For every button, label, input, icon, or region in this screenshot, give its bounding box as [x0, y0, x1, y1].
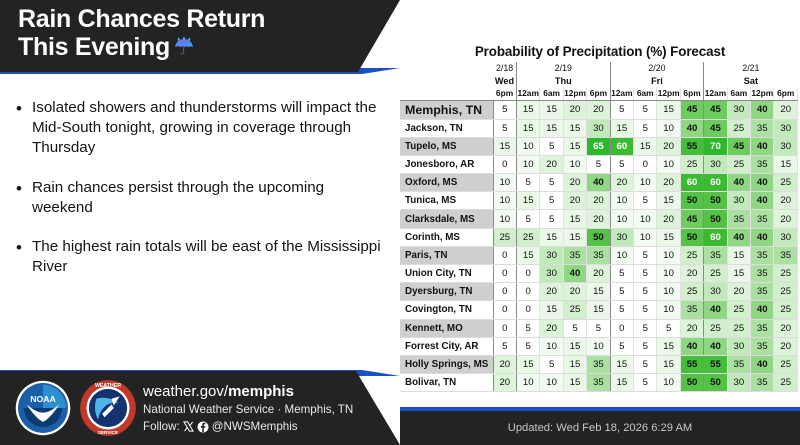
pop-value-cell: 35	[751, 246, 774, 264]
pop-value-cell: 5	[634, 265, 657, 283]
pop-value-cell: 15	[540, 119, 563, 137]
svg-text:NOAA: NOAA	[30, 394, 56, 404]
pop-value-cell: 60	[704, 174, 727, 192]
pop-value-cell: 20	[563, 174, 586, 192]
headline-line-1: Rain Chances Return	[18, 5, 265, 33]
pop-value-cell: 35	[751, 119, 774, 137]
pop-value-cell: 0	[493, 265, 516, 283]
day-date-header: 2/20	[610, 62, 704, 74]
table-row: Bolivar, TN2010101535155105050303525	[400, 374, 798, 392]
pop-value-cell: 0	[493, 301, 516, 319]
pop-value-cell: 25	[493, 228, 516, 246]
hour-header: 12pm	[657, 87, 680, 100]
table-row: Oxford, MS105520402010206060404025	[400, 174, 798, 192]
pop-value-cell: 15	[563, 137, 586, 155]
pop-value-cell: 65	[587, 137, 610, 155]
pop-value-cell: 20	[774, 192, 798, 210]
pop-value-cell: 30	[587, 119, 610, 137]
pop-value-cell: 15	[657, 355, 680, 373]
pop-value-cell: 30	[774, 228, 798, 246]
pop-value-cell: 15	[517, 355, 540, 373]
pop-value-cell: 25	[680, 246, 703, 264]
city-name-cell: Dyersburg, TN	[400, 283, 493, 301]
pop-value-cell: 5	[587, 155, 610, 173]
pop-value-cell: 55	[704, 355, 727, 373]
pop-value-cell: 30	[727, 100, 750, 119]
pop-value-cell: 0	[493, 319, 516, 337]
pop-value-cell: 40	[587, 174, 610, 192]
pop-value-cell: 10	[610, 210, 633, 228]
day-name-header: Sat	[704, 74, 798, 87]
pop-value-cell: 20	[563, 100, 586, 119]
pop-value-cell: 30	[727, 374, 750, 392]
pop-value-cell: 20	[774, 100, 798, 119]
pop-value-cell: 25	[774, 355, 798, 373]
pop-value-cell: 35	[587, 374, 610, 392]
pop-value-cell: 25	[727, 119, 750, 137]
pop-value-cell: 35	[751, 337, 774, 355]
pop-value-cell: 10	[657, 265, 680, 283]
pop-value-cell: 10	[657, 374, 680, 392]
pop-value-cell: 40	[751, 174, 774, 192]
table-row: Kennett, MO0520550552025253520	[400, 319, 798, 337]
pop-value-cell: 35	[751, 155, 774, 173]
pop-value-cell: 15	[517, 246, 540, 264]
pop-value-cell: 5	[634, 337, 657, 355]
footer-banner: NOAA WEATHER SERVICE weather.gov/memphis…	[0, 371, 400, 445]
bullet-text: The highest rain totals will be east of …	[32, 237, 388, 277]
pop-value-cell: 20	[727, 283, 750, 301]
pop-value-cell: 5	[563, 319, 586, 337]
city-name-cell: Tupelo, MS	[400, 137, 493, 155]
pop-value-cell: 25	[774, 374, 798, 392]
city-name-cell: Jackson, TN	[400, 119, 493, 137]
pop-value-cell: 25	[704, 319, 727, 337]
pop-value-cell: 35	[727, 210, 750, 228]
headline-banner: Rain Chances Return This Evening	[0, 0, 400, 72]
day-date-header: 2/18	[493, 62, 516, 74]
pop-value-cell: 20	[657, 210, 680, 228]
city-name-cell: Kennett, MO	[400, 319, 493, 337]
day-name-header: Thu	[517, 74, 611, 87]
bullet-dot-icon: •	[16, 178, 32, 218]
pop-value-cell: 20	[657, 174, 680, 192]
pop-value-cell: 25	[774, 283, 798, 301]
pop-value-cell: 15	[610, 355, 633, 373]
city-name-cell: Memphis, TN	[400, 100, 493, 119]
left-panel: Rain Chances Return This Evening	[0, 0, 400, 445]
pop-value-cell: 10	[657, 301, 680, 319]
pop-value-cell: 10	[610, 246, 633, 264]
agency-logos: NOAA WEATHER SERVICE	[14, 379, 137, 437]
city-name-cell: Covington, TN	[400, 301, 493, 319]
table-title: Probability of Precipitation (%) Forecas…	[400, 44, 800, 59]
hour-header: 6am	[727, 87, 750, 100]
pop-value-cell: 15	[493, 137, 516, 155]
national-weather-service-logo: WEATHER SERVICE	[79, 379, 137, 437]
pop-value-cell: 45	[704, 119, 727, 137]
website-prefix: weather.gov/	[143, 383, 228, 400]
day-date-header: 2/21	[704, 62, 798, 74]
pop-value-cell: 35	[680, 301, 703, 319]
pop-value-cell: 15	[563, 374, 586, 392]
pop-value-cell: 20	[774, 319, 798, 337]
noaa-logo: NOAA	[14, 379, 72, 437]
pop-value-cell: 20	[587, 210, 610, 228]
list-item: • Isolated showers and thunderstorms wil…	[16, 98, 388, 159]
pop-value-cell: 25	[774, 301, 798, 319]
pop-value-cell: 30	[540, 265, 563, 283]
pop-value-cell: 5	[517, 174, 540, 192]
pop-value-cell: 45	[727, 137, 750, 155]
table-body: Memphis, TN51515202055154545304020Jackso…	[400, 100, 798, 392]
pop-value-cell: 5	[540, 174, 563, 192]
pop-value-cell: 35	[751, 319, 774, 337]
list-item: • Rain chances persist through the upcom…	[16, 178, 388, 218]
pop-value-cell: 50	[704, 210, 727, 228]
pop-value-cell: 10	[493, 192, 516, 210]
hour-header: 6am	[540, 87, 563, 100]
pop-value-cell: 5	[634, 374, 657, 392]
website-office: memphis	[228, 383, 294, 400]
pop-value-cell: 35	[751, 210, 774, 228]
footer-text: weather.gov/memphis National Weather Ser…	[143, 383, 353, 435]
hour-header: 12am	[610, 87, 633, 100]
pop-value-cell: 30	[540, 246, 563, 264]
pop-value-cell: 40	[751, 192, 774, 210]
pop-value-cell: 20	[493, 355, 516, 373]
pop-value-cell: 35	[751, 374, 774, 392]
forecast-panel: Probability of Precipitation (%) Forecas…	[400, 0, 800, 445]
pop-value-cell: 50	[704, 374, 727, 392]
pop-value-cell: 50	[587, 228, 610, 246]
pop-value-cell: 20	[587, 192, 610, 210]
social-handle[interactable]: @NWSMemphis	[212, 419, 298, 436]
pop-value-cell: 10	[493, 210, 516, 228]
pop-value-cell: 10	[634, 210, 657, 228]
table-row: Covington, TN0015251555103540254025	[400, 301, 798, 319]
pop-value-cell: 5	[634, 192, 657, 210]
table-header: 2/182/192/202/21 WedThuFriSat 6pm12am6am…	[400, 62, 798, 100]
header-row-dayofweek: WedThuFriSat	[400, 74, 798, 87]
pop-value-cell: 10	[657, 155, 680, 173]
pop-value-cell: 10	[657, 283, 680, 301]
follow-line: Follow: @NWSMemphis	[143, 419, 353, 436]
table-row: Corinth, MS25251515503010155060404030	[400, 228, 798, 246]
pop-value-cell: 20	[610, 174, 633, 192]
hour-header: 12am	[517, 87, 540, 100]
pop-value-cell: 35	[587, 246, 610, 264]
pop-value-cell: 30	[704, 155, 727, 173]
pop-value-cell: 25	[727, 155, 750, 173]
pop-value-cell: 40	[751, 355, 774, 373]
pop-value-cell: 5	[610, 337, 633, 355]
precipitation-probability-table: 2/182/192/202/21 WedThuFriSat 6pm12am6am…	[400, 62, 798, 392]
pop-value-cell: 0	[493, 155, 516, 173]
table-row: Forrest City, AR5510151055154040303520	[400, 337, 798, 355]
pop-value-cell: 15	[563, 119, 586, 137]
pop-value-cell: 5	[634, 355, 657, 373]
pop-value-cell: 20	[774, 210, 798, 228]
pop-value-cell: 25	[563, 301, 586, 319]
pop-value-cell: 5	[540, 137, 563, 155]
pop-value-cell: 5	[610, 301, 633, 319]
pop-value-cell: 40	[704, 301, 727, 319]
city-name-cell: Jonesboro, AR	[400, 155, 493, 173]
pop-value-cell: 10	[634, 228, 657, 246]
pop-value-cell: 5	[634, 246, 657, 264]
follow-label: Follow:	[143, 419, 180, 436]
pop-value-cell: 15	[563, 337, 586, 355]
pop-value-cell: 50	[680, 228, 703, 246]
table-row: Holly Springs, MS20155153515515555535402…	[400, 355, 798, 373]
pop-value-cell: 15	[517, 192, 540, 210]
pop-value-cell: 40	[751, 137, 774, 155]
pop-value-cell: 15	[634, 137, 657, 155]
table-row: Jackson, TN515151530155104045253530	[400, 119, 798, 137]
hour-header: 12pm	[751, 87, 774, 100]
pop-value-cell: 20	[540, 155, 563, 173]
pop-value-cell: 20	[587, 100, 610, 119]
pop-value-cell: 5	[657, 319, 680, 337]
pop-value-cell: 35	[751, 265, 774, 283]
pop-value-cell: 10	[517, 137, 540, 155]
pop-value-cell: 25	[727, 301, 750, 319]
pop-value-cell: 45	[704, 100, 727, 119]
pop-value-cell: 70	[704, 137, 727, 155]
pop-value-cell: 20	[563, 283, 586, 301]
website-line[interactable]: weather.gov/memphis	[143, 383, 353, 402]
day-date-header: 2/19	[517, 62, 611, 74]
pop-value-cell: 5	[634, 283, 657, 301]
city-column-header	[400, 87, 493, 100]
pop-value-cell: 10	[493, 174, 516, 192]
svg-text:SERVICE: SERVICE	[98, 430, 118, 435]
pop-value-cell: 35	[563, 246, 586, 264]
pop-value-cell: 15	[657, 192, 680, 210]
pop-value-cell: 0	[517, 301, 540, 319]
pop-value-cell: 55	[680, 137, 703, 155]
pop-value-cell: 40	[680, 337, 703, 355]
pop-value-cell: 35	[704, 246, 727, 264]
header-row-hour: 6pm12am6am12pm6pm12am6am12pm6pm12am6am12…	[400, 87, 798, 100]
pop-value-cell: 15	[563, 355, 586, 373]
city-name-cell: Forrest City, AR	[400, 337, 493, 355]
pop-value-cell: 25	[517, 228, 540, 246]
facebook-icon[interactable]	[197, 421, 209, 433]
pop-value-cell: 15	[540, 228, 563, 246]
pop-value-cell: 5	[540, 210, 563, 228]
bullet-text: Rain chances persist through the upcomin…	[32, 178, 388, 218]
pop-value-cell: 25	[704, 265, 727, 283]
table-row: Paris, TN015303535105102535153535	[400, 246, 798, 264]
pop-value-cell: 40	[727, 174, 750, 192]
pop-value-cell: 60	[704, 228, 727, 246]
pop-value-cell: 20	[563, 192, 586, 210]
pop-value-cell: 15	[727, 246, 750, 264]
pop-value-cell: 15	[517, 100, 540, 119]
pop-value-cell: 10	[517, 374, 540, 392]
pop-value-cell: 5	[634, 100, 657, 119]
pop-value-cell: 5	[517, 319, 540, 337]
pop-value-cell: 10	[563, 155, 586, 173]
pop-value-cell: 0	[517, 265, 540, 283]
hour-header: 6pm	[774, 87, 798, 100]
pop-value-cell: 20	[657, 137, 680, 155]
page-title: Rain Chances Return This Evening	[18, 5, 348, 63]
pop-value-cell: 20	[680, 265, 703, 283]
bullet-dot-icon: •	[16, 98, 32, 159]
pop-value-cell: 10	[540, 374, 563, 392]
hour-header: 6pm	[680, 87, 703, 100]
hour-header: 6pm	[587, 87, 610, 100]
umbrella-with-rain-icon	[173, 35, 195, 63]
city-name-cell: Corinth, MS	[400, 228, 493, 246]
pop-value-cell: 20	[540, 283, 563, 301]
pop-value-cell: 50	[704, 192, 727, 210]
city-name-cell: Oxford, MS	[400, 174, 493, 192]
table-row: Union City, TN0030402055102025153525	[400, 265, 798, 283]
pop-value-cell: 15	[610, 119, 633, 137]
pop-value-cell: 5	[540, 192, 563, 210]
pop-value-cell: 20	[587, 265, 610, 283]
pop-value-cell: 15	[540, 100, 563, 119]
pop-value-cell: 45	[680, 210, 703, 228]
bullet-dot-icon: •	[16, 237, 32, 277]
pop-value-cell: 0	[493, 283, 516, 301]
pop-value-cell: 5	[517, 210, 540, 228]
pop-value-cell: 35	[774, 246, 798, 264]
pop-value-cell: 0	[493, 246, 516, 264]
city-column-header	[400, 74, 493, 87]
pop-value-cell: 30	[704, 283, 727, 301]
pop-value-cell: 0	[517, 283, 540, 301]
pop-value-cell: 60	[680, 174, 703, 192]
pop-value-cell: 15	[610, 374, 633, 392]
pop-value-cell: 5	[634, 301, 657, 319]
pop-value-cell: 35	[727, 355, 750, 373]
table-row: Tunica, MS101552020105155050304020	[400, 192, 798, 210]
pop-value-cell: 35	[587, 355, 610, 373]
table-row: Jonesboro, AR0102010550102530253515	[400, 155, 798, 173]
pop-value-cell: 5	[610, 265, 633, 283]
city-name-cell: Holly Springs, MS	[400, 355, 493, 373]
pop-value-cell: 25	[680, 283, 703, 301]
pop-value-cell: 25	[774, 174, 798, 192]
pop-value-cell: 40	[563, 265, 586, 283]
pop-value-cell: 55	[680, 355, 703, 373]
x-twitter-icon[interactable]	[183, 421, 194, 432]
pop-value-cell: 30	[610, 228, 633, 246]
city-column-header	[400, 62, 493, 74]
pop-value-cell: 5	[493, 100, 516, 119]
pop-value-cell: 40	[680, 119, 703, 137]
pop-value-cell: 5	[540, 355, 563, 373]
pop-value-cell: 15	[587, 283, 610, 301]
day-name-header: Wed	[493, 74, 516, 87]
table-row: Tupelo, MS1510515656015205570454030	[400, 137, 798, 155]
pop-value-cell: 30	[774, 137, 798, 155]
pop-value-cell: 25	[727, 319, 750, 337]
table-row: Clarksdale, MS105515201010204550353520	[400, 210, 798, 228]
headline-line-2: This Evening	[18, 33, 170, 61]
pop-value-cell: 40	[727, 228, 750, 246]
pop-value-cell: 50	[680, 374, 703, 392]
city-name-cell: Union City, TN	[400, 265, 493, 283]
pop-value-cell: 0	[634, 155, 657, 173]
pop-value-cell: 30	[727, 192, 750, 210]
pop-value-cell: 50	[680, 192, 703, 210]
pop-value-cell: 20	[493, 374, 516, 392]
pop-value-cell: 5	[634, 319, 657, 337]
svg-text:WEATHER: WEATHER	[95, 383, 121, 389]
pop-value-cell: 5	[610, 155, 633, 173]
pop-value-cell: 15	[517, 119, 540, 137]
updated-timestamp: Updated: Wed Feb 18, 2026 6:29 AM	[400, 407, 800, 445]
hour-header: 6pm	[493, 87, 516, 100]
pop-value-cell: 20	[774, 337, 798, 355]
pop-value-cell: 60	[610, 137, 633, 155]
city-name-cell: Tunica, MS	[400, 192, 493, 210]
pop-value-cell: 35	[751, 283, 774, 301]
pop-value-cell: 15	[587, 301, 610, 319]
pop-value-cell: 10	[610, 192, 633, 210]
pop-value-cell: 45	[680, 100, 703, 119]
city-name-cell: Paris, TN	[400, 246, 493, 264]
pop-value-cell: 5	[493, 337, 516, 355]
list-item: • The highest rain totals will be east o…	[16, 237, 388, 277]
city-name-cell: Bolivar, TN	[400, 374, 493, 392]
pop-value-cell: 30	[774, 119, 798, 137]
header-row-date: 2/182/192/202/21	[400, 62, 798, 74]
pop-value-cell: 40	[751, 100, 774, 119]
pop-value-cell: 15	[774, 155, 798, 173]
pop-value-cell: 10	[657, 246, 680, 264]
bullet-list: • Isolated showers and thunderstorms wil…	[16, 98, 388, 297]
bullet-text: Isolated showers and thunderstorms will …	[32, 98, 388, 159]
pop-value-cell: 40	[704, 337, 727, 355]
day-name-header: Fri	[610, 74, 704, 87]
city-name-cell: Clarksdale, MS	[400, 210, 493, 228]
pop-value-cell: 20	[680, 319, 703, 337]
pop-value-cell: 5	[610, 283, 633, 301]
pop-value-cell: 5	[493, 119, 516, 137]
hour-header: 12pm	[563, 87, 586, 100]
pop-value-cell: 10	[657, 119, 680, 137]
pop-value-cell: 10	[540, 337, 563, 355]
pop-value-cell: 15	[657, 337, 680, 355]
pop-value-cell: 5	[587, 319, 610, 337]
hour-header: 6am	[634, 87, 657, 100]
office-name: National Weather Service · Memphis, TN	[143, 402, 353, 419]
table-row: Dyersburg, TN0020201555102530203525	[400, 283, 798, 301]
pop-value-cell: 5	[517, 337, 540, 355]
pop-value-cell: 0	[610, 319, 633, 337]
hour-header: 12am	[704, 87, 727, 100]
table-row: Memphis, TN51515202055154545304020	[400, 100, 798, 119]
pop-value-cell: 15	[563, 210, 586, 228]
pop-value-cell: 10	[587, 337, 610, 355]
pop-value-cell: 40	[751, 301, 774, 319]
pop-value-cell: 5	[610, 100, 633, 119]
pop-value-cell: 15	[657, 228, 680, 246]
pop-value-cell: 5	[634, 119, 657, 137]
pop-value-cell: 25	[774, 265, 798, 283]
pop-value-cell: 25	[680, 155, 703, 173]
pop-value-cell: 15	[657, 100, 680, 119]
pop-value-cell: 15	[563, 228, 586, 246]
pop-value-cell: 15	[727, 265, 750, 283]
